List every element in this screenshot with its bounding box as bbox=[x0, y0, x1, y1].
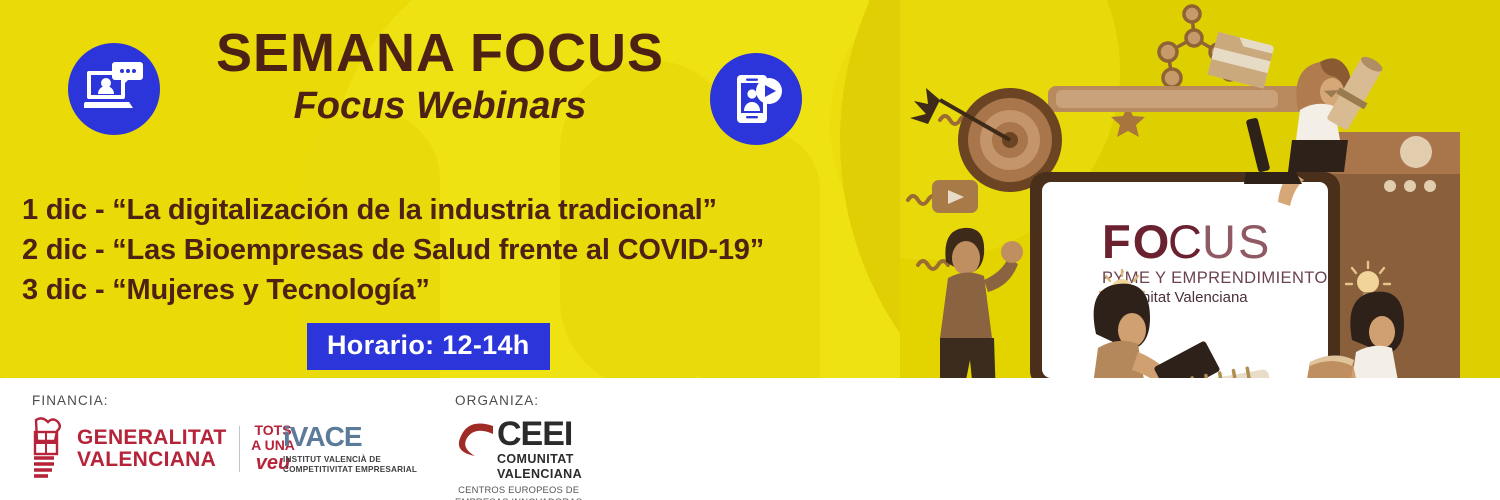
svg-text:FO: FO bbox=[1102, 215, 1171, 268]
logo-divider bbox=[239, 426, 241, 472]
financia-label: FINANCIA: bbox=[32, 393, 109, 408]
ceei-sub-line1: CENTROS EUROPEOS DE bbox=[455, 484, 582, 496]
ivace-wordmark: iVACE bbox=[283, 423, 417, 451]
title-block: SEMANA FOCUS Focus Webinars bbox=[175, 26, 705, 127]
generalitat-line1: GENERALITAT bbox=[77, 427, 227, 449]
page-title: SEMANA FOCUS bbox=[175, 26, 705, 81]
laptop-video-chat-icon bbox=[68, 43, 160, 135]
ivace-sub-line1: INSTITUT VALENCIÀ DE bbox=[283, 455, 417, 465]
footer-logos: FINANCIA: ORGANIZA: bbox=[0, 378, 1500, 500]
mobile-play-video-icon bbox=[710, 53, 802, 145]
ceei-region-line1: COMUNITAT bbox=[497, 452, 582, 466]
generalitat-shield-icon bbox=[30, 416, 68, 482]
list-item: 1 dic - “La digitalización de la industr… bbox=[22, 190, 962, 230]
svg-text:US: US bbox=[1202, 215, 1271, 268]
session-list: 1 dic - “La digitalización de la industr… bbox=[22, 190, 962, 310]
ceei-region-line2: VALENCIANA bbox=[497, 467, 582, 481]
svg-text:C: C bbox=[1168, 215, 1204, 268]
generalitat-valenciana-logo: GENERALITAT VALENCIANA TOTS A UNA veu bbox=[30, 416, 295, 482]
list-item: 3 dic - “Mujeres y Tecnología” bbox=[22, 270, 962, 310]
ceei-wordmark: CEEI bbox=[497, 418, 582, 450]
schedule-badge: Horario: 12-14h bbox=[307, 323, 550, 370]
promo-banner: SEMANA FOCUS Focus Webinars 1 dic - “La … bbox=[0, 0, 1500, 500]
ceei-arc-icon bbox=[455, 418, 497, 458]
page-subtitle: Focus Webinars bbox=[175, 87, 705, 127]
ceei-sub-line2: EMPRESAS INNOVADORAS bbox=[455, 496, 582, 500]
ceei-logo: CEEI COMUNITAT VALENCIANA CENTROS EUROPE… bbox=[455, 418, 582, 500]
ivace-sub-line2: COMPETITIVITAT EMPRESARIAL bbox=[283, 465, 417, 475]
list-item: 2 dic - “Las Bioempresas de Salud frente… bbox=[22, 230, 962, 270]
generalitat-line2: VALENCIANA bbox=[77, 449, 227, 471]
ivace-logo: iVACE INSTITUT VALENCIÀ DE COMPETITIVITA… bbox=[283, 423, 417, 476]
organiza-label: ORGANIZA: bbox=[455, 393, 539, 408]
